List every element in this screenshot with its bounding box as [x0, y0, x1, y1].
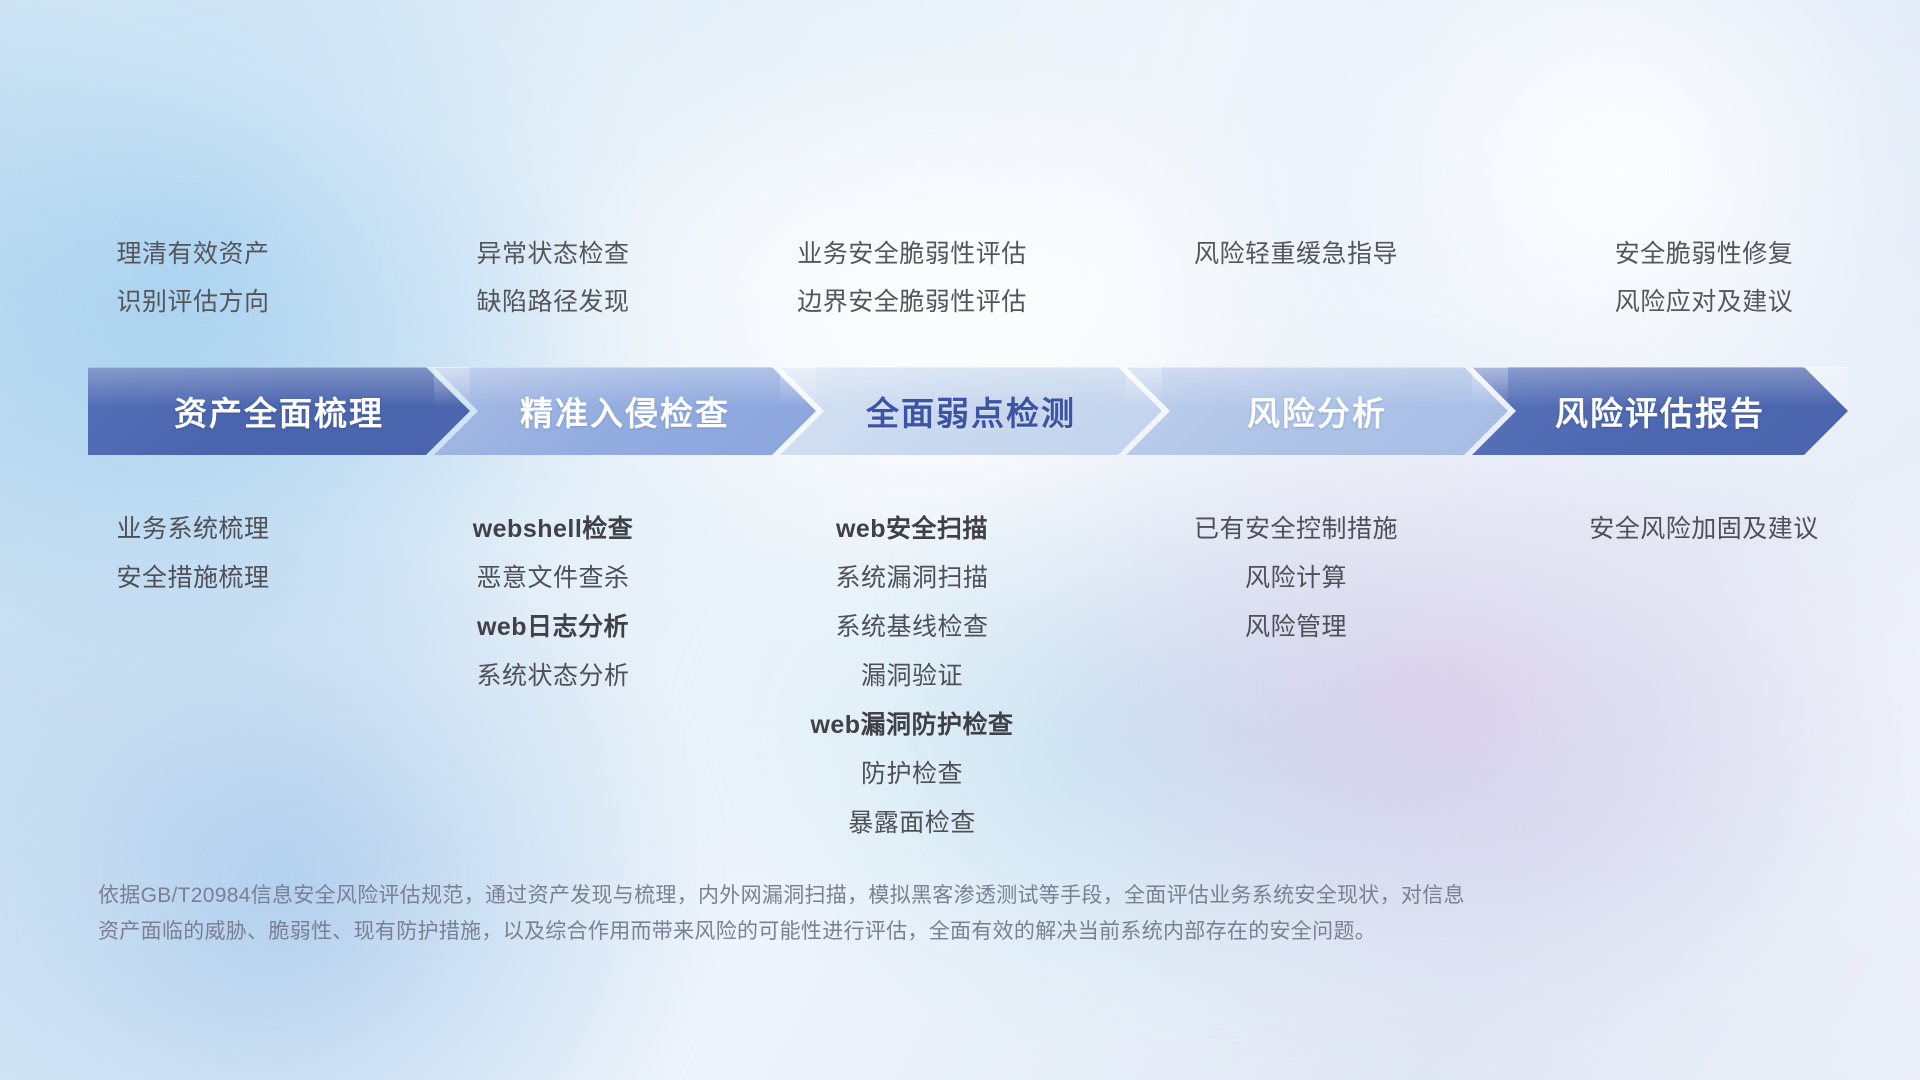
detail-item: 风险管理 — [1245, 603, 1347, 652]
top-column-1: 理清有效资产 识别评估方向 — [0, 230, 386, 326]
process-step-1[interactable]: 资产全面梳理 — [88, 367, 470, 455]
top-item: 缺陷路径发现 — [476, 278, 629, 326]
top-item: 风险应对及建议 — [1615, 278, 1794, 326]
infographic-content: 理清有效资产 识别评估方向 异常状态检查 缺陷路径发现 业务安全脆弱性评估 边界… — [0, 0, 1920, 1080]
top-column-3: 业务安全脆弱性评估 边界安全脆弱性评估 — [720, 230, 1104, 326]
top-column-4: 风险轻重缓急指导 — [1104, 230, 1488, 326]
detail-item: 系统状态分析 — [476, 652, 629, 701]
bottom-column-1: 业务系统梳理 安全措施梳理 — [0, 505, 386, 848]
top-column-2: 异常状态检查 缺陷路径发现 — [386, 230, 720, 326]
detail-item: 系统漏洞扫描 — [835, 554, 988, 603]
top-descriptions-row: 理清有效资产 识别评估方向 异常状态检查 缺陷路径发现 业务安全脆弱性评估 边界… — [0, 230, 1920, 326]
detail-item: 防护检查 — [861, 750, 963, 799]
detail-item: 恶意文件查杀 — [476, 554, 629, 603]
bottom-details-row: 业务系统梳理 安全措施梳理 webshell检查 恶意文件查杀 web日志分析 … — [0, 505, 1920, 848]
process-step-4[interactable]: 风险分析 — [1126, 367, 1508, 455]
detail-item: 风险计算 — [1245, 554, 1347, 603]
top-item: 识别评估方向 — [116, 278, 269, 326]
detail-item: 安全措施梳理 — [116, 554, 269, 603]
detail-item: web漏洞防护检查 — [810, 701, 1013, 750]
detail-item: 业务系统梳理 — [116, 505, 269, 554]
process-step-2[interactable]: 精准入侵检查 — [434, 367, 816, 455]
detail-item: 已有安全控制措施 — [1194, 505, 1398, 554]
footer-description: 依据GB/T20984信息安全风险评估规范，通过资产发现与梳理，内外网漏洞扫描，… — [98, 878, 1658, 950]
process-chevron-band: 资产全面梳理 精准入侵检查 全面弱点检测 风险分析 风险评估报告 — [88, 367, 1848, 455]
process-step-3[interactable]: 全面弱点检测 — [780, 367, 1162, 455]
bottom-column-2: webshell检查 恶意文件查杀 web日志分析 系统状态分析 — [386, 505, 720, 848]
detail-item: webshell检查 — [473, 505, 634, 554]
top-column-5: 安全脆弱性修复 风险应对及建议 — [1488, 230, 1920, 326]
top-item: 安全脆弱性修复 — [1615, 230, 1794, 278]
process-step-label: 资产全面梳理 — [174, 387, 384, 435]
top-item: 业务安全脆弱性评估 — [797, 230, 1027, 278]
process-step-label: 风险评估报告 — [1555, 387, 1765, 435]
detail-item: web日志分析 — [477, 603, 629, 652]
bottom-column-3: web安全扫描 系统漏洞扫描 系统基线检查 漏洞验证 web漏洞防护检查 防护检… — [720, 505, 1104, 848]
footer-line-1: 依据GB/T20984信息安全风险评估规范，通过资产发现与梳理，内外网漏洞扫描，… — [98, 878, 1658, 914]
detail-item: 系统基线检查 — [835, 603, 988, 652]
process-step-label: 全面弱点检测 — [866, 387, 1076, 435]
detail-item: 漏洞验证 — [861, 652, 963, 701]
detail-item: web安全扫描 — [836, 505, 988, 554]
process-step-5[interactable]: 风险评估报告 — [1472, 367, 1848, 455]
top-item: 异常状态检查 — [476, 230, 629, 278]
bottom-column-4: 已有安全控制措施 风险计算 风险管理 — [1104, 505, 1488, 848]
process-step-label: 风险分析 — [1247, 387, 1387, 435]
process-step-label: 精准入侵检查 — [520, 387, 730, 435]
top-item: 风险轻重缓急指导 — [1194, 230, 1398, 278]
bottom-column-5: 安全风险加固及建议 — [1488, 505, 1920, 848]
detail-item: 安全风险加固及建议 — [1589, 505, 1819, 554]
top-item: 理清有效资产 — [116, 230, 269, 278]
footer-line-2: 资产面临的威胁、脆弱性、现有防护措施，以及综合作用而带来风险的可能性进行评估，全… — [98, 914, 1658, 950]
top-item: 边界安全脆弱性评估 — [797, 278, 1027, 326]
detail-item: 暴露面检查 — [848, 799, 976, 848]
